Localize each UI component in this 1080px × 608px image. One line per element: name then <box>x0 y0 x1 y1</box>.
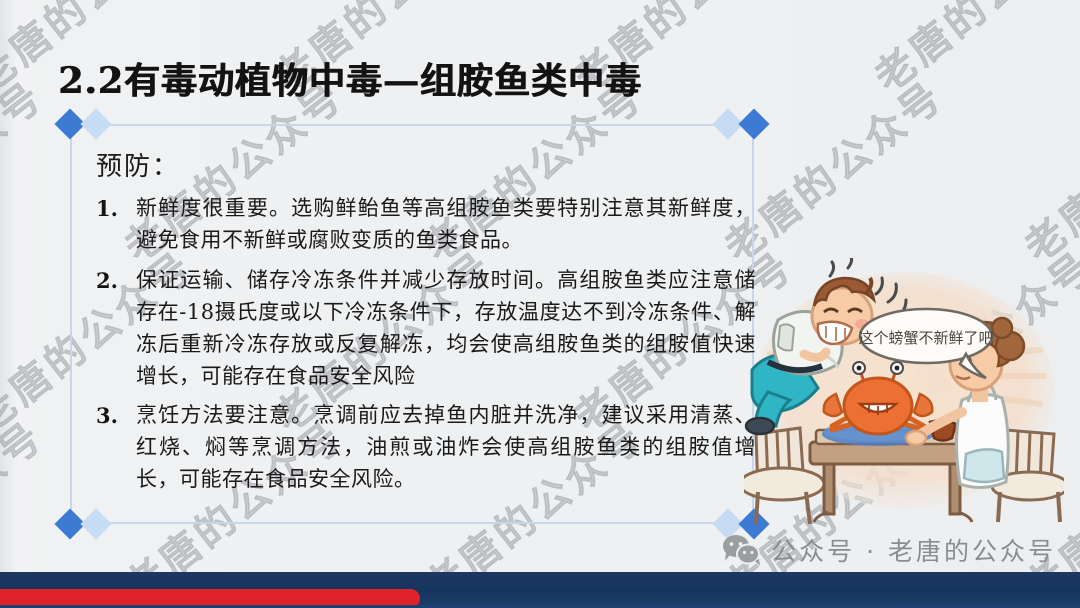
page-title: 2.2有毒动植物中毒—组胺鱼类中毒 <box>58 52 642 104</box>
speech-bubble-text: 这个螃蟹不新鲜了吧 <box>858 329 993 347</box>
prevention-item: 1.新鲜度很重要。选购鲜鲐鱼等高组胺鱼类要特别注意其新鲜度，避免食用不新鲜或腐败… <box>96 193 756 257</box>
slide-canvas: 老唐的公众号老唐的公众号老唐的公众号老唐的公众号老唐的公众号老唐的公众号老唐的公… <box>0 0 1080 608</box>
diamond-light-top-left <box>80 108 111 139</box>
frame-line-bottom <box>100 522 726 524</box>
frame-line-top <box>100 124 726 126</box>
watermark-text: 老唐的公众号 <box>0 65 54 273</box>
content-body: 预防： 1.新鲜度很重要。选购鲜鲐鱼等高组胺鱼类要特别注意其新鲜度，避免食用不新… <box>96 146 756 504</box>
prevention-item-text: 烹饪方法要注意。烹调前应去掉鱼内脏并洗净，建议采用清蒸、红烧、焖等烹调方法，油煎… <box>136 400 756 496</box>
watermark-text: 老唐的公众号 <box>1010 65 1080 273</box>
footer-attribution: 公众号 · 老唐的公众号 <box>721 532 1056 568</box>
prevention-item-number: 3. <box>96 400 136 432</box>
prevention-item: 3.烹饪方法要注意。烹调前应去掉鱼内脏并洗净，建议采用清蒸、红烧、焖等烹调方法，… <box>96 400 756 496</box>
prevention-item: 2.保证运输、储存冷冻条件并减少存放时间。高组胺鱼类应注意储存在-18摄氏度或以… <box>96 265 756 393</box>
prevention-item-text: 保证运输、储存冷冻条件并减少存放时间。高组胺鱼类应注意储存在-18摄氏度或以下冷… <box>136 265 756 393</box>
prevention-item-text: 新鲜度很重要。选购鲜鲐鱼等高组胺鱼类要特别注意其新鲜度，避免食用不新鲜或腐败变质… <box>136 193 756 257</box>
prevention-list: 1.新鲜度很重要。选购鲜鲐鱼等高组胺鱼类要特别注意其新鲜度，避免食用不新鲜或腐败… <box>96 193 756 496</box>
diamond-dark-top-right <box>738 108 769 139</box>
section-label: 预防： <box>96 146 756 183</box>
frame-line-left <box>70 136 72 524</box>
footer-text: 公众号 · 老唐的公众号 <box>771 532 1056 568</box>
prevention-item-number: 1. <box>96 193 136 225</box>
wechat-icon <box>721 533 761 567</box>
prevention-item-number: 2. <box>96 265 136 297</box>
watermark-text: 老唐的公众号 <box>860 0 1080 103</box>
cartoon-illustration: 这个螃蟹不新鲜了吧 <box>744 258 1064 526</box>
diamond-light-bottom-left <box>80 508 111 539</box>
